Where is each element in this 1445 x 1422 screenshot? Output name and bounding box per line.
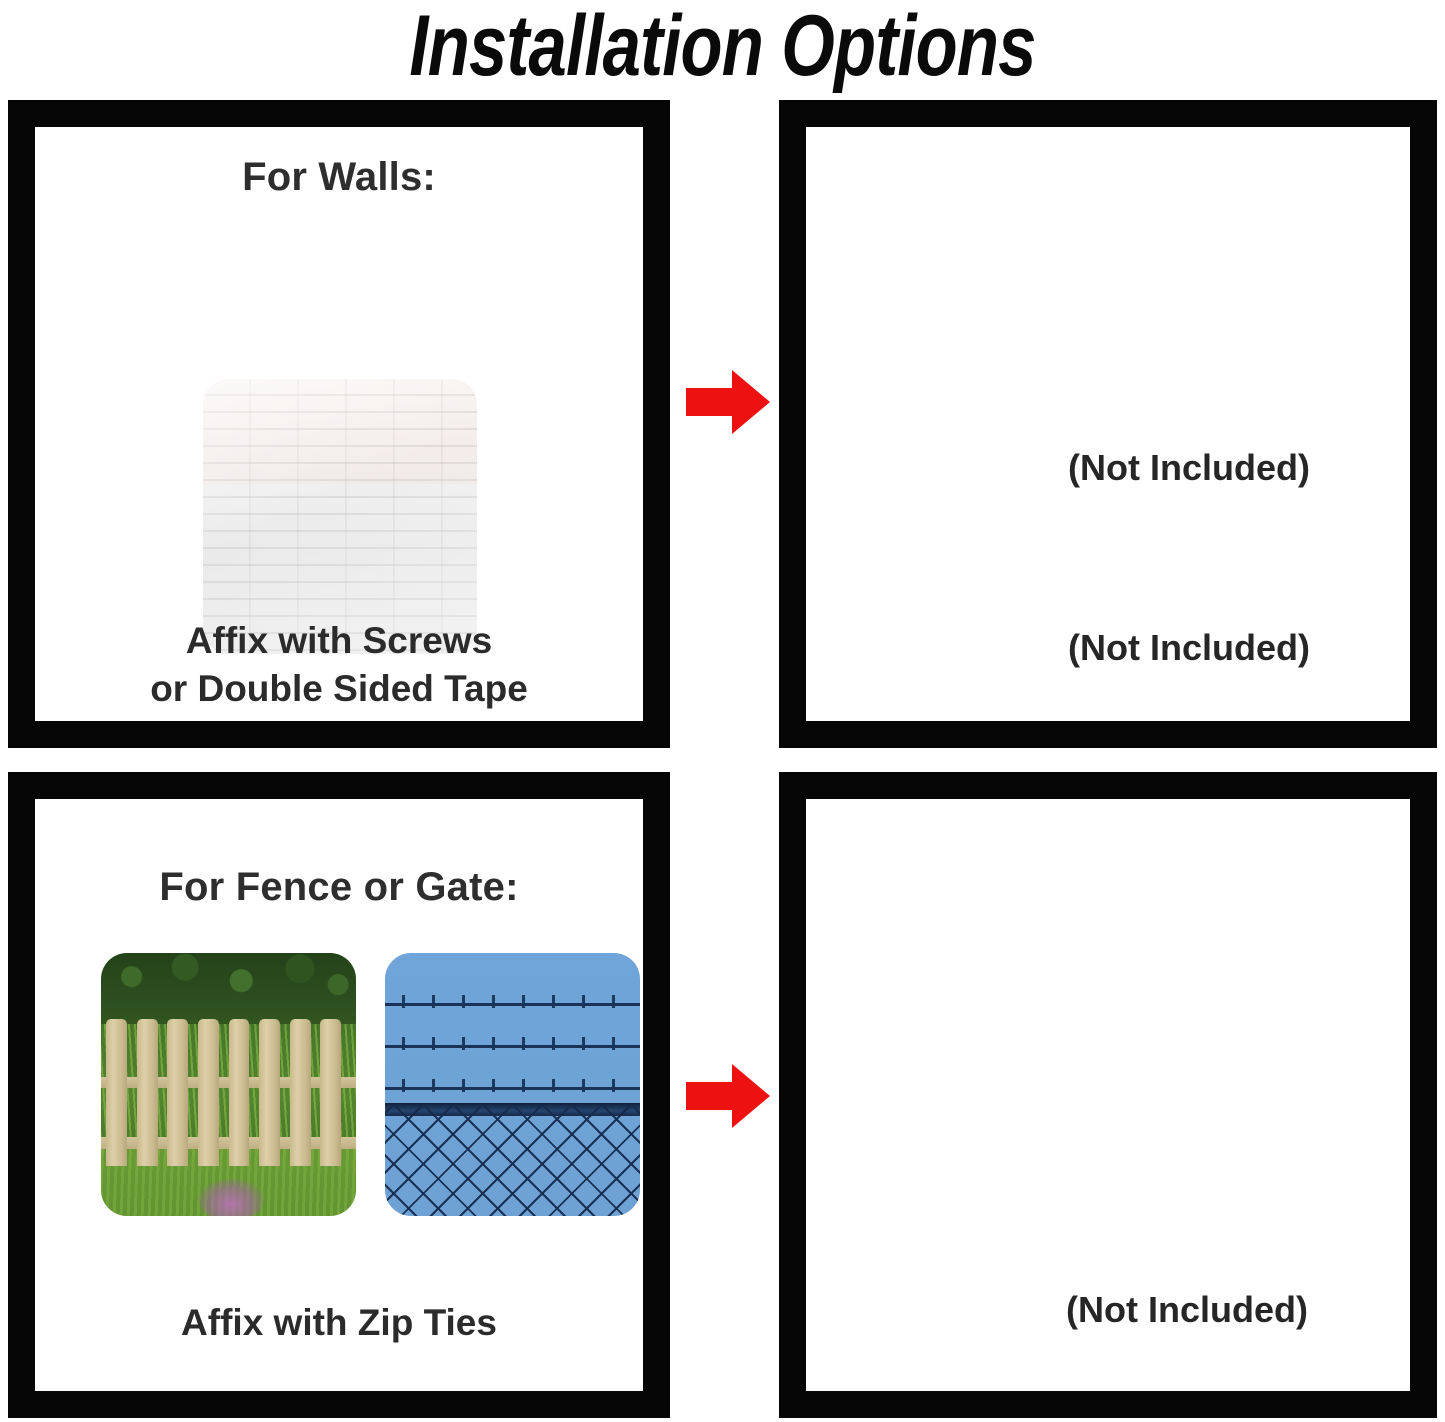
panel-zip-ties-content: (Not Included) <box>806 799 1410 1391</box>
for-walls-heading: For Walls: <box>35 155 643 200</box>
barb-spikes <box>385 1037 640 1050</box>
fence-picket <box>198 1019 219 1166</box>
fence-picket <box>259 1019 280 1166</box>
panel-zip-ties: (Not Included) <box>779 772 1437 1418</box>
panel-for-fence-or-gate: For Fence or Gate: <box>8 772 670 1418</box>
fence-picket <box>137 1019 158 1166</box>
for-fence-heading: For Fence or Gate: <box>35 865 643 910</box>
wooden-picket-fence-photo <box>101 953 356 1216</box>
fence-picket <box>106 1019 127 1166</box>
for-fence-caption: Affix with Zip Ties <box>35 1299 643 1347</box>
arrow-right-icon <box>684 1060 772 1132</box>
screws-not-included-label: (Not Included) <box>1068 627 1310 669</box>
panel-for-fence-content: For Fence or Gate: <box>35 799 643 1391</box>
panel-hardware-content: (Not Included) <box>806 127 1410 721</box>
for-walls-caption-line1: Affix with Screws <box>35 617 643 665</box>
for-walls-caption-line2: or Double Sided Tape <box>35 665 643 713</box>
chain-link-mesh <box>385 1106 640 1216</box>
fence-picket <box>167 1019 188 1166</box>
tape-not-included-label: (Not Included) <box>1068 447 1310 489</box>
panel-for-walls-content: For Walls: Affix with Screws or Double S… <box>35 127 643 721</box>
fence-picket <box>320 1019 341 1166</box>
arrow-right-icon <box>684 366 772 438</box>
barb-spikes <box>385 995 640 1008</box>
zipties-not-included-label: (Not Included) <box>1066 1289 1308 1331</box>
wall-highlight-sheen <box>203 379 477 654</box>
fence-picket <box>290 1019 311 1166</box>
chain-link-barbed-wire-fence-photo <box>385 953 640 1216</box>
barb-spikes <box>385 1079 640 1092</box>
panel-hardware: (Not Included) <box>779 100 1437 748</box>
page-title: Installation Options <box>145 0 1301 96</box>
white-brick-wall-photo <box>203 379 477 654</box>
panel-for-walls: For Walls: Affix with Screws or Double S… <box>8 100 670 748</box>
garden-path-patch <box>198 1179 264 1216</box>
fence-picket <box>229 1019 250 1166</box>
